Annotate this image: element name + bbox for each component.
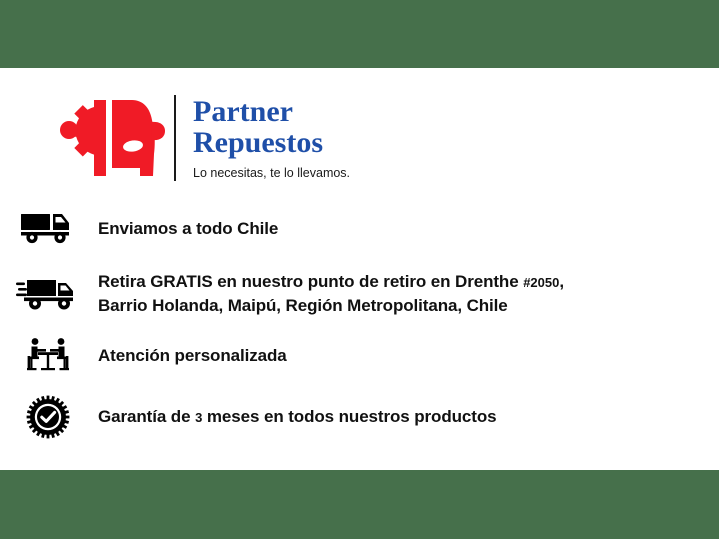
feature-text-shipping: Enviamos a todo Chile xyxy=(98,217,719,240)
feature-text-attention: Atención personalizada xyxy=(98,344,719,367)
feature-line-1: Garantía de xyxy=(98,407,195,426)
feature-text-warranty: Garantía de 3 meses en todos nuestros pr… xyxy=(98,405,719,429)
content-area: Partner Repuestos Lo necesitas, te lo ll… xyxy=(0,68,719,470)
brand-name-line-2: Repuestos xyxy=(193,127,350,158)
feature-line-2: Barrio Holanda, Maipú, Región Metropolit… xyxy=(98,296,508,315)
brand-tagline: Lo necesitas, te lo llevamos. xyxy=(193,165,350,181)
feature-line-1: Retira GRATIS en nuestro punto de retiro… xyxy=(98,272,523,291)
people-at-table-icon xyxy=(14,337,82,373)
street-number: #2050 xyxy=(523,275,559,290)
feature-row-attention: Atención personalizada xyxy=(0,333,719,377)
features-list: Enviamos a todo Chile xyxy=(0,206,719,439)
logo-divider xyxy=(174,95,176,181)
brand-name-line-1: Partner xyxy=(193,96,350,127)
feature-row-pickup: Retira GRATIS en nuestro punto de retiro… xyxy=(0,270,719,317)
guarantee-badge-icon xyxy=(14,395,82,439)
logo-text-block: Partner Repuestos Lo necesitas, te lo ll… xyxy=(193,96,350,181)
feature-row-shipping: Enviamos a todo Chile xyxy=(0,206,719,250)
feature-line-1: Enviamos a todo Chile xyxy=(98,219,278,238)
brand-logo: Partner Repuestos Lo necesitas, te lo ll… xyxy=(56,94,350,182)
feature-line-1: Atención personalizada xyxy=(98,346,287,365)
feature-text-pickup: Retira GRATIS en nuestro punto de retiro… xyxy=(98,270,719,317)
bottom-green-band xyxy=(0,470,719,539)
delivery-truck-icon xyxy=(14,212,82,244)
gear-car-logo-icon xyxy=(56,94,168,182)
feature-row-warranty: Garantía de 3 meses en todos nuestros pr… xyxy=(0,395,719,439)
feature-line-1-tail: meses en todos nuestros productos xyxy=(202,407,496,426)
top-green-band xyxy=(0,0,719,68)
promo-banner: Partner Repuestos Lo necesitas, te lo ll… xyxy=(0,0,719,539)
feature-line-1-tail: , xyxy=(559,272,564,291)
moving-truck-icon xyxy=(14,277,82,311)
